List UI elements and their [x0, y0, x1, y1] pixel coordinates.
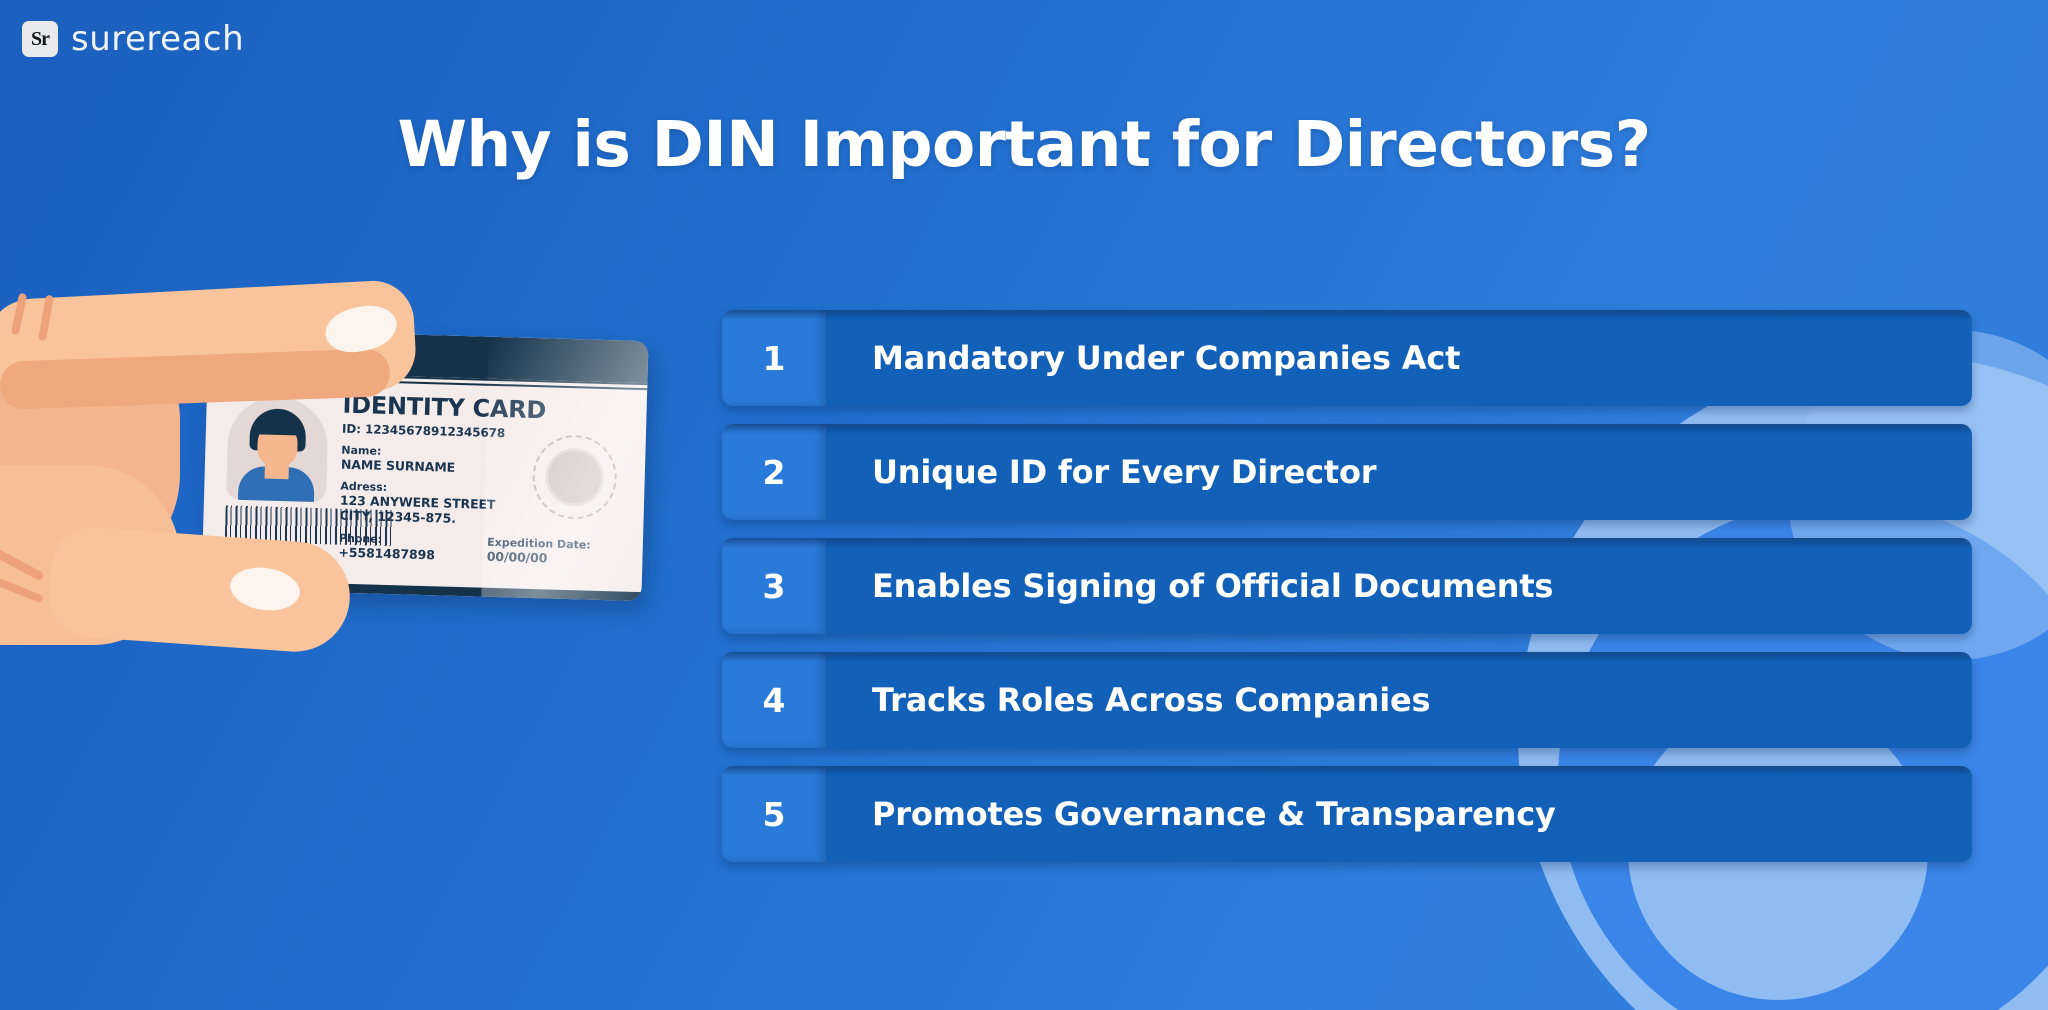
hand-lower-finger [47, 525, 354, 656]
brand-logo[interactable]: Sr surereach [22, 19, 244, 59]
id-card-expedition-field: Expedition Date: 00/00/00 [487, 536, 591, 567]
list-item-number: 4 [722, 652, 826, 748]
logo-wordmark: surereach [71, 19, 244, 59]
id-card-expedition-value: 00/00/00 [487, 549, 591, 567]
list-item-number: 3 [722, 538, 826, 634]
list-item-label: Tracks Roles Across Companies [826, 652, 1972, 748]
benefits-list: 1 Mandatory Under Companies Act 2 Unique… [722, 310, 1972, 862]
list-item-number: 5 [722, 766, 826, 862]
id-card-illustration: IDENTITY CARD ID: 12345678912345678 Name… [0, 255, 700, 685]
list-item-label: Enables Signing of Official Documents [826, 538, 1972, 634]
list-item[interactable]: 5 Promotes Governance & Transparency [722, 766, 1972, 862]
list-item-label: Unique ID for Every Director [826, 424, 1972, 520]
list-item[interactable]: 3 Enables Signing of Official Documents [722, 538, 1972, 634]
seal-inner [545, 447, 605, 507]
list-item-label: Mandatory Under Companies Act [826, 310, 1972, 406]
page-title: Why is DIN Important for Directors? [0, 108, 2048, 181]
list-item[interactable]: 4 Tracks Roles Across Companies [722, 652, 1972, 748]
hand-illustration [0, 255, 500, 685]
list-item-number: 2 [722, 424, 826, 520]
list-item-label: Promotes Governance & Transparency [826, 766, 1972, 862]
list-item[interactable]: 1 Mandatory Under Companies Act [722, 310, 1972, 406]
logo-mark-icon: Sr [22, 21, 58, 57]
list-item[interactable]: 2 Unique ID for Every Director [722, 424, 1972, 520]
list-item-number: 1 [722, 310, 826, 406]
